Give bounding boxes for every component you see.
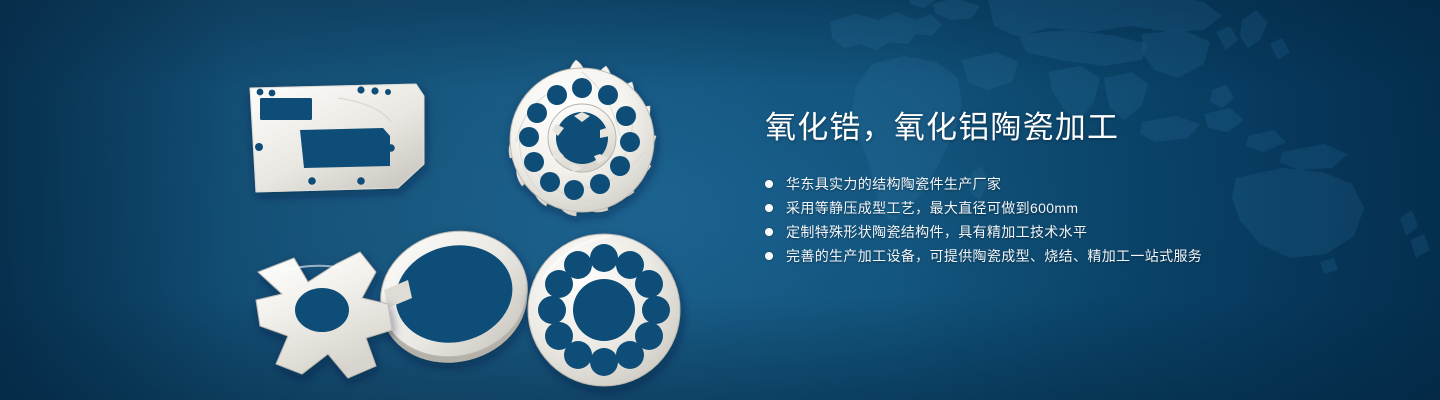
list-item: 华东具实力的结构陶瓷件生产厂家 [765,172,1385,196]
feature-text: 完善的生产加工设备，可提供陶瓷成型、烧结、精加工一站式服务 [786,244,1202,268]
feature-list: 华东具实力的结构陶瓷件生产厂家 采用等静压成型工艺，最大直径可做到600mm 定… [765,172,1385,268]
ceramic-impeller-photo [509,60,656,216]
bullet-dot-icon [765,204,773,212]
bullet-dot-icon [765,180,773,188]
list-item: 完善的生产加工设备，可提供陶瓷成型、烧结、精加工一站式服务 [765,244,1385,268]
ceramic-plate-photo [250,84,424,192]
hero-banner: 氧化锆，氧化铝陶瓷加工 华东具实力的结构陶瓷件生产厂家 采用等静压成型工艺，最大… [0,0,1440,400]
feature-text: 采用等静压成型工艺，最大直径可做到600mm [786,196,1078,220]
ceramic-parts-photo-group [228,36,698,376]
page-title: 氧化锆，氧化铝陶瓷加工 [765,108,1385,148]
list-item: 采用等静压成型工艺，最大直径可做到600mm [765,196,1385,220]
banner-copy: 氧化锆，氧化铝陶瓷加工 华东具实力的结构陶瓷件生产厂家 采用等静压成型工艺，最大… [765,108,1385,268]
feature-text: 华东具实力的结构陶瓷件生产厂家 [786,172,1001,196]
ceramic-ring-photo [367,216,541,378]
bullet-dot-icon [765,252,773,260]
list-item: 定制特殊形状陶瓷结构件，具有精加工技术水平 [765,220,1385,244]
ceramic-cross-part-photo [256,252,392,378]
ceramic-perforated-disc-photo [528,234,680,386]
feature-text: 定制特殊形状陶瓷结构件，具有精加工技术水平 [786,220,1087,244]
bullet-dot-icon [765,228,773,236]
